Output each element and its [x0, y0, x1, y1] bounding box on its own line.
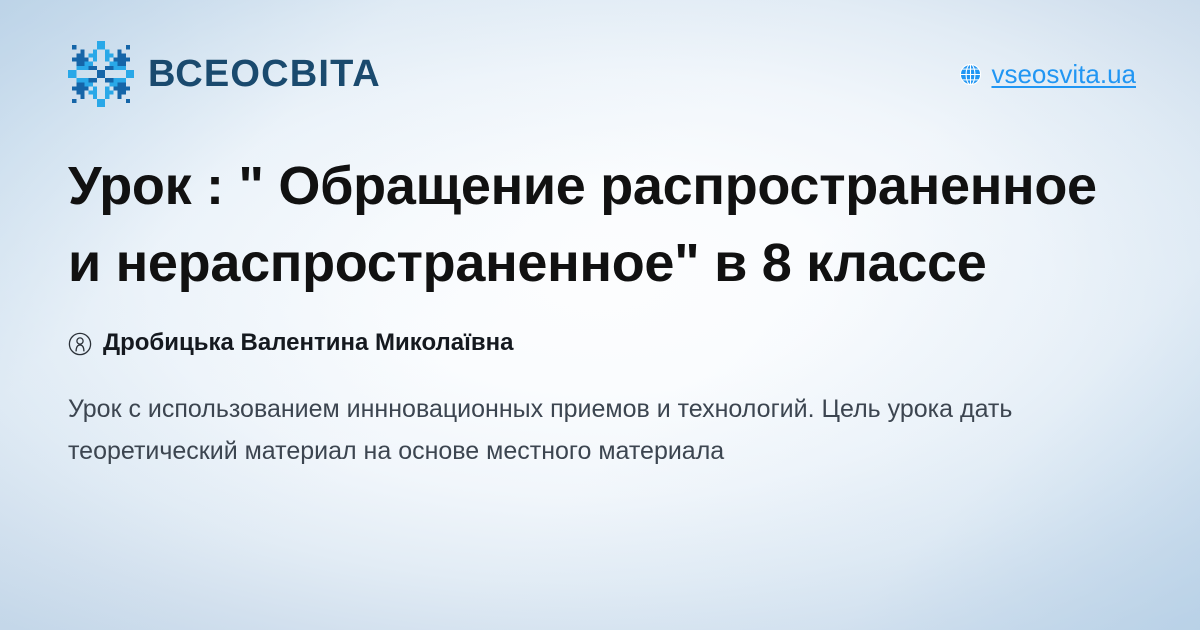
globe-icon — [959, 63, 982, 86]
og-preview-card: ВСЕОСВІТА vseosvita.ua Урок : — [0, 0, 1200, 630]
author-name: Дробицька Валентина Миколаївна — [103, 329, 513, 358]
author-byline: Дробицька Валентина Миколаївна — [68, 329, 1136, 358]
user-circle-icon — [68, 332, 92, 356]
card-content: ВСЕОСВІТА vseosvita.ua Урок : — [0, 0, 1200, 630]
page-title: Урок : " Обращение распространенное и не… — [68, 148, 1136, 301]
header: ВСЕОСВІТА vseosvita.ua — [68, 40, 1136, 108]
brand-wordmark: ВСЕОСВІТА — [148, 55, 381, 93]
pixel-snowflake-ornament-icon — [68, 41, 134, 107]
brand-logo[interactable]: ВСЕОСВІТА — [68, 41, 381, 107]
site-url-label: vseosvita.ua — [991, 61, 1136, 87]
page-description: Урок с использованием иннновационных при… — [68, 388, 1103, 472]
site-url-link[interactable]: vseosvita.ua — [959, 61, 1136, 87]
